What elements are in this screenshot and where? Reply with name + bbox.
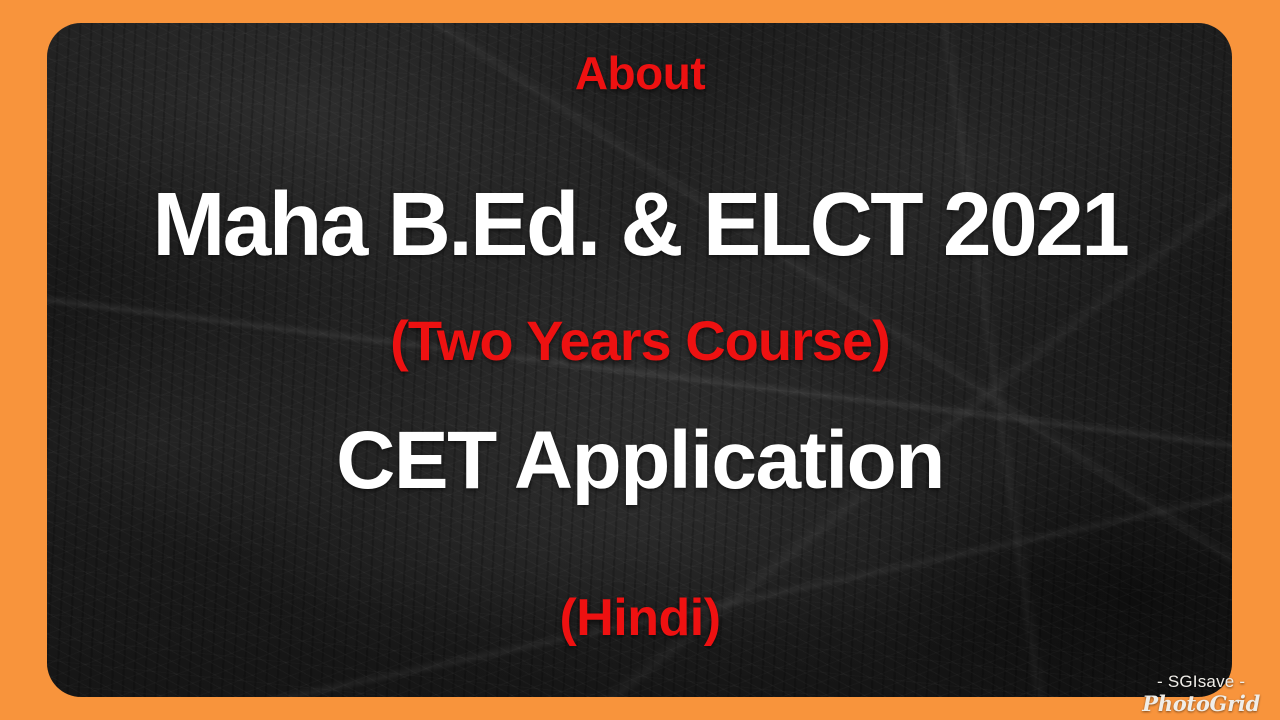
course-duration-subtitle: (Two Years Course) [0, 313, 1280, 369]
eyebrow-text: About [0, 50, 1280, 96]
section-heading: CET Application [0, 420, 1280, 502]
page-title: Maha B.Ed. & ELCT 2021 [19, 180, 1261, 270]
slide-content: About Maha B.Ed. & ELCT 2021 (Two Years … [0, 0, 1280, 720]
slide-frame: About Maha B.Ed. & ELCT 2021 (Two Years … [0, 0, 1280, 720]
language-label: (Hindi) [0, 592, 1280, 644]
